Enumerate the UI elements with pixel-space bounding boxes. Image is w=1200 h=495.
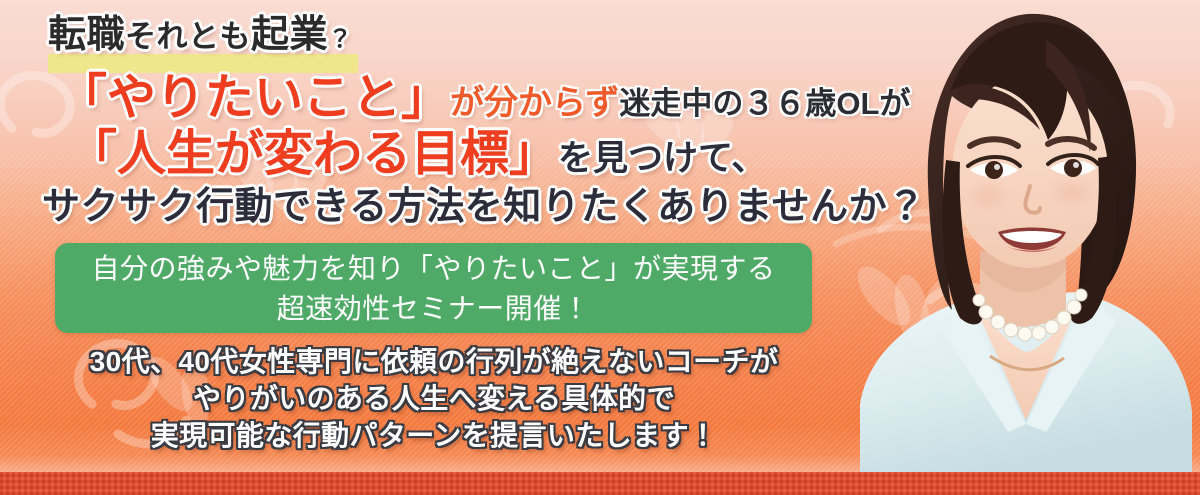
headline-line-1: 転職それとも起業？ bbox=[48, 16, 353, 54]
headline-line-1-seg-2: それとも bbox=[125, 19, 251, 54]
subcopy-line-2: やりがいのある人生へ変える具体的で bbox=[0, 380, 868, 417]
seminar-callout-line-2: 超速効性セミナー開催！ bbox=[277, 289, 591, 329]
headline-line-3-seg-1: 「人生が変わる目標」 bbox=[68, 127, 558, 181]
seminar-callout-line-1: 自分の強みや魅力を知り「やりたいこと」が実現する bbox=[91, 249, 775, 289]
headline-line-4: サクサク行動できる方法を知りたくありませんか？ bbox=[42, 188, 926, 226]
subcopy-line-3: 実現可能な行動パターンを提言いたします！ bbox=[0, 417, 868, 454]
headline-line-3-seg-2: を見つけて、 bbox=[558, 139, 766, 178]
headline-line-1-seg-3: 起業 bbox=[251, 14, 328, 56]
headline-line-1-seg-4: ？ bbox=[328, 26, 353, 53]
subcopy-block: 30代、40代女性専門に依頼の行列が絶えないコーチが やりがいのある人生へ変える… bbox=[0, 343, 868, 455]
footer-accent-bar bbox=[0, 472, 1200, 495]
headline-line-3: 「人生が変わる目標」を見つけて、 bbox=[68, 130, 766, 179]
headline-copy-block: 転職それとも起業？ 「やりたいこと」が分からず迷走中の３６歳OLが 「人生が変わ… bbox=[0, 0, 870, 495]
headline-line-2-seg-1: 「やりたいこと」 bbox=[58, 71, 450, 125]
headline-line-2: 「やりたいこと」が分からず迷走中の３６歳OLが bbox=[58, 74, 910, 123]
headline-line-2-seg-2: が分からず bbox=[450, 84, 619, 122]
headline-line-2-seg-3: 迷走中の３６歳OLが bbox=[619, 86, 910, 121]
promo-banner: 転職それとも起業？ 「やりたいこと」が分からず迷走中の３６歳OLが 「人生が変わ… bbox=[0, 0, 1200, 495]
subcopy-line-1: 30代、40代女性専門に依頼の行列が絶えないコーチが bbox=[0, 343, 868, 380]
headline-line-1-seg-1: 転職 bbox=[48, 14, 125, 56]
seminar-callout-box: 自分の強みや魅力を知り「やりたいこと」が実現する 超速効性セミナー開催！ bbox=[55, 243, 812, 333]
